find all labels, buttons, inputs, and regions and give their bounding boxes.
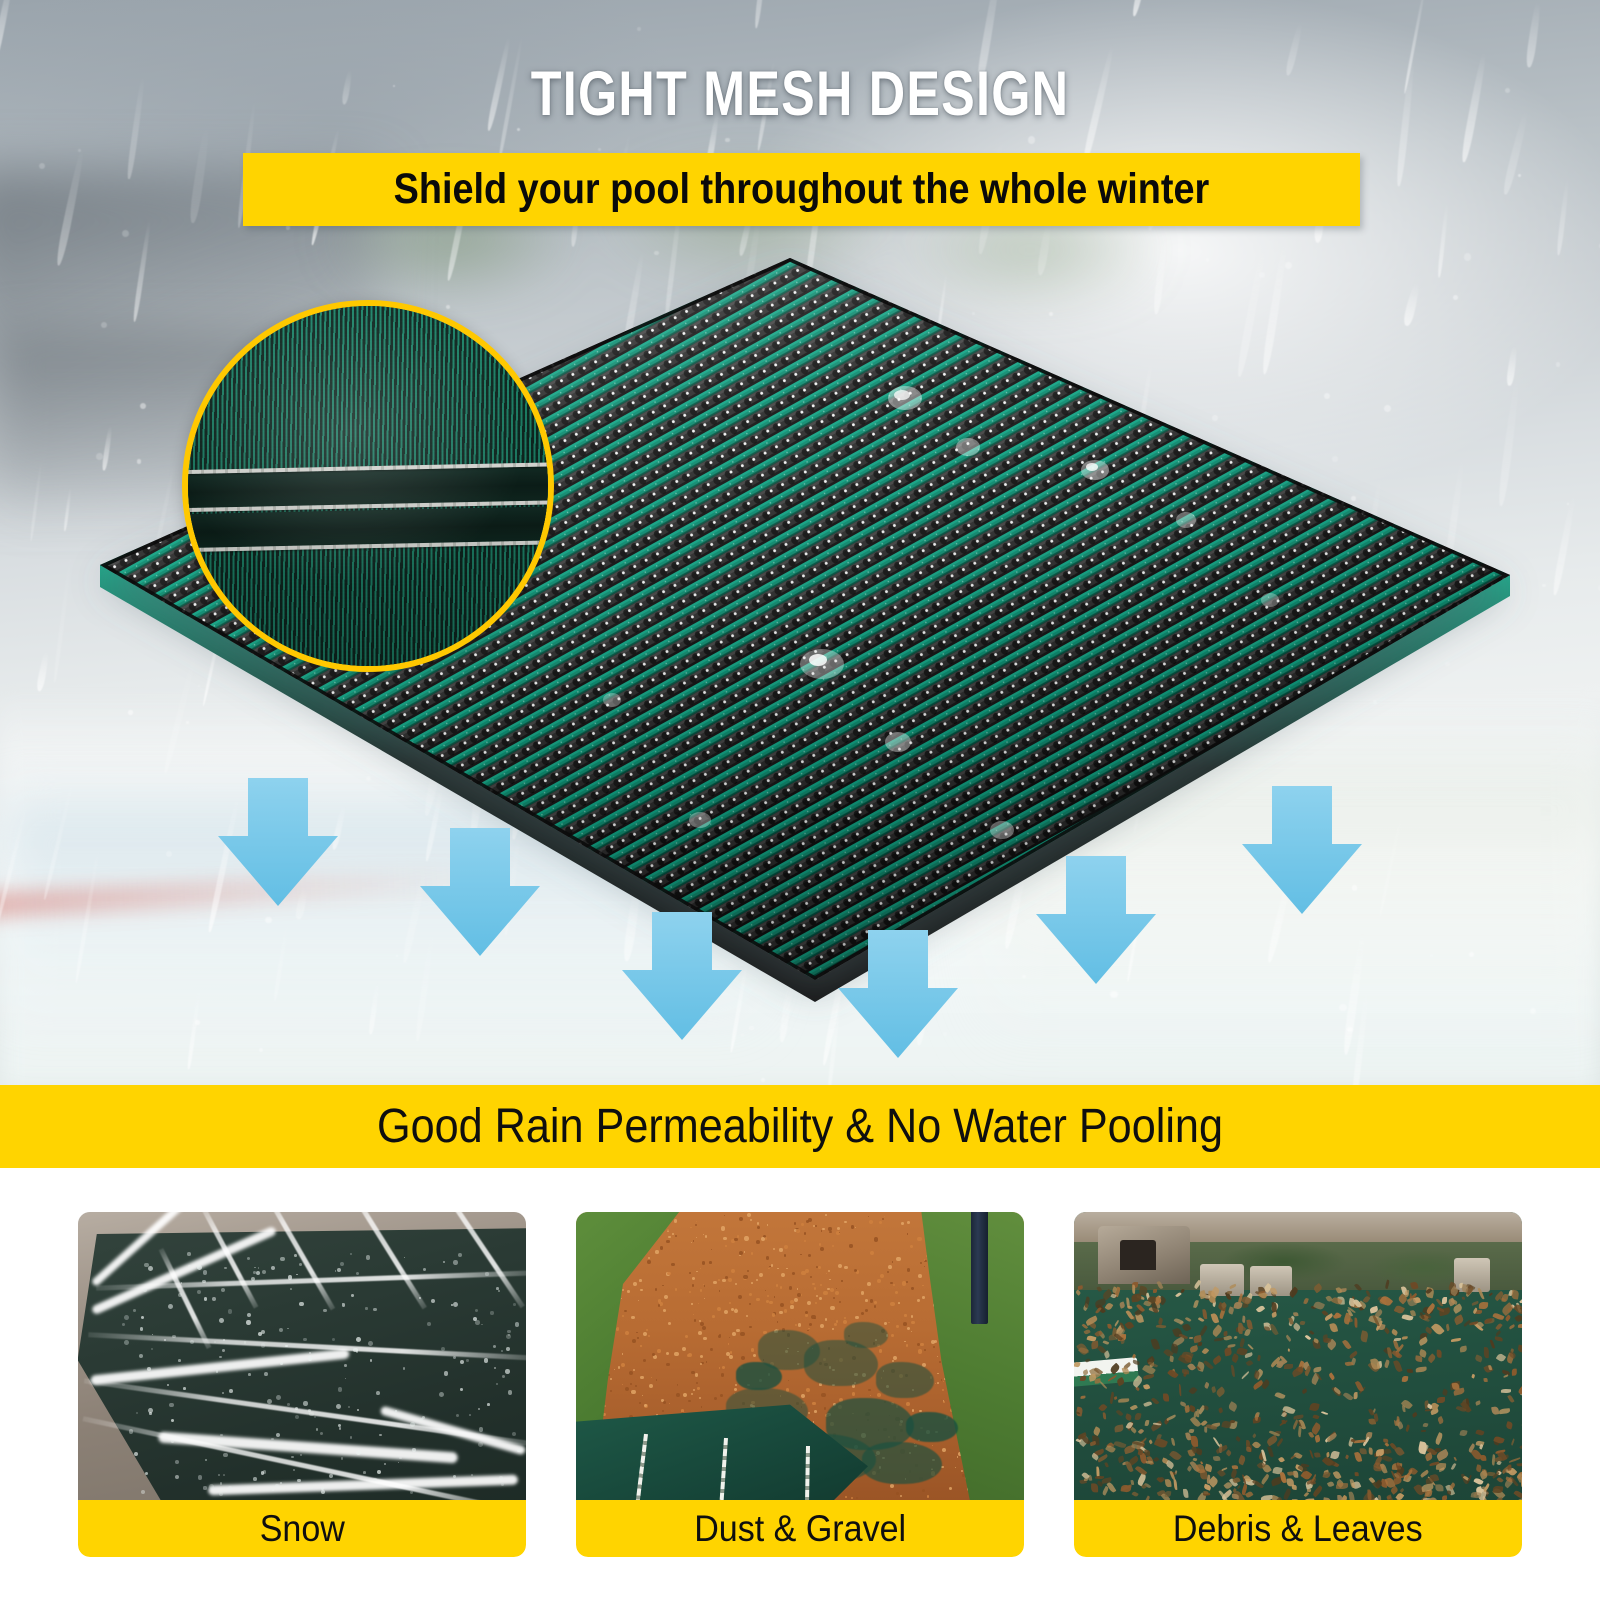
snow-speck xyxy=(148,1408,153,1413)
gravel-grain xyxy=(640,1289,642,1291)
fallen-leaf xyxy=(1518,1344,1522,1352)
snow-speck xyxy=(453,1356,456,1359)
gravel-grain xyxy=(722,1279,725,1282)
snow-speck xyxy=(219,1492,223,1496)
gravel-grain xyxy=(855,1227,856,1228)
gravel-grain xyxy=(631,1390,635,1394)
gravel-grain xyxy=(837,1227,840,1230)
snow-speck xyxy=(485,1272,488,1275)
gravel-grain xyxy=(805,1269,809,1273)
gravel-grain xyxy=(702,1326,706,1330)
gravel-grain xyxy=(691,1371,694,1374)
snow-speck xyxy=(403,1367,405,1369)
gravel-grain xyxy=(939,1361,941,1363)
snow-speck xyxy=(198,1475,202,1479)
snow-speck xyxy=(261,1343,266,1348)
fallen-leaf xyxy=(1368,1447,1373,1454)
fallen-leaf xyxy=(1227,1290,1232,1294)
gravel-grain xyxy=(734,1309,738,1313)
gravel-grain xyxy=(777,1321,779,1323)
snow-speck xyxy=(267,1399,272,1404)
snow-speck xyxy=(183,1387,186,1390)
fallen-leaf xyxy=(1232,1493,1239,1498)
fallen-leaf xyxy=(1501,1389,1511,1393)
gravel-grain xyxy=(869,1220,873,1224)
gravel-grain xyxy=(720,1394,723,1397)
gravel-grain xyxy=(753,1354,756,1357)
gravel-grain xyxy=(717,1307,721,1311)
gravel-grain xyxy=(741,1356,745,1360)
snow-speck xyxy=(280,1257,284,1261)
snow-speck xyxy=(506,1347,510,1351)
gravel-grain xyxy=(918,1274,922,1278)
snow-speck xyxy=(228,1486,232,1490)
photo-dust-gravel xyxy=(576,1212,1024,1500)
gravel-grain xyxy=(751,1282,753,1284)
arrow-1 xyxy=(218,778,338,906)
photo-debris-leaves xyxy=(1074,1212,1522,1500)
snow-speck xyxy=(203,1486,206,1489)
snow-speck xyxy=(124,1315,129,1320)
panel-label-dust-gravel-text: Dust & Gravel xyxy=(694,1508,906,1550)
snow-speck xyxy=(280,1482,282,1484)
gravel-grain xyxy=(826,1273,827,1274)
gravel-grain xyxy=(621,1298,622,1299)
fallen-leaf xyxy=(1144,1420,1148,1426)
gravel-grain xyxy=(779,1248,782,1251)
gravel-grain xyxy=(603,1413,605,1415)
panel-label-snow-text: Snow xyxy=(259,1508,344,1550)
snow-speck xyxy=(288,1275,292,1279)
exposed-cover-patch xyxy=(736,1362,782,1390)
snow-speck xyxy=(261,1330,265,1334)
gravel-grain xyxy=(662,1410,664,1412)
gravel-grain xyxy=(924,1266,925,1267)
snow-speck xyxy=(172,1335,176,1339)
gravel-grain xyxy=(771,1264,773,1266)
snow-speck xyxy=(314,1416,316,1418)
gravel-grain xyxy=(920,1343,923,1346)
fallen-leaf xyxy=(1484,1347,1489,1358)
fallen-leaf xyxy=(1437,1350,1443,1358)
gravel-grain xyxy=(839,1301,841,1303)
snow-speck xyxy=(419,1297,421,1299)
gravel-grain xyxy=(895,1291,898,1294)
gravel-grain xyxy=(648,1257,650,1259)
gravel-grain xyxy=(827,1288,829,1290)
gravel-grain xyxy=(639,1279,642,1282)
snow-speck xyxy=(365,1307,367,1309)
snow-speck xyxy=(501,1350,503,1352)
gravel-grain xyxy=(744,1236,748,1240)
snow-speck xyxy=(271,1266,275,1270)
fallen-leaf xyxy=(1436,1484,1444,1491)
gravel-grain xyxy=(692,1284,694,1286)
gravel-grain xyxy=(635,1385,637,1387)
gravel-grain xyxy=(917,1237,921,1241)
snow-speck xyxy=(471,1474,473,1476)
gravel-grain xyxy=(761,1237,765,1241)
gravel-grain xyxy=(903,1322,907,1326)
gravel-grain xyxy=(822,1228,825,1231)
subtitle-banner: Shield your pool throughout the whole wi… xyxy=(243,153,1360,226)
photo-snow xyxy=(78,1212,526,1500)
gravel-grain xyxy=(845,1496,847,1498)
exposed-cover-patch xyxy=(906,1412,958,1442)
snow-speck xyxy=(214,1341,216,1343)
gravel-grain xyxy=(900,1495,902,1497)
gravel-grain xyxy=(749,1293,752,1296)
gravel-grain xyxy=(937,1373,938,1374)
gravel-grain xyxy=(739,1251,743,1255)
fallen-leaf xyxy=(1132,1285,1135,1295)
gravel-grain xyxy=(710,1348,713,1351)
gravel-grain xyxy=(790,1305,793,1308)
use-case-panels: Snow Dust & Gravel xyxy=(0,1200,1600,1570)
gravel-grain xyxy=(697,1387,699,1389)
snow-speck xyxy=(181,1282,183,1284)
fallen-leaf xyxy=(1323,1334,1329,1341)
gravel-grain xyxy=(647,1260,651,1264)
gravel-grain xyxy=(927,1495,930,1498)
snow-speck xyxy=(469,1414,471,1416)
snow-speck xyxy=(507,1330,510,1333)
fallen-leaf xyxy=(1512,1369,1517,1376)
fallen-leaf xyxy=(1511,1289,1519,1299)
snow-speck xyxy=(171,1440,174,1443)
gravel-grain xyxy=(825,1318,827,1320)
gravel-grain xyxy=(668,1322,671,1325)
gravel-grain xyxy=(922,1489,925,1492)
snow-speck xyxy=(219,1318,224,1323)
arrow-3 xyxy=(622,912,742,1040)
snow-speck xyxy=(220,1482,222,1484)
snow-speck xyxy=(276,1395,281,1400)
fallen-leaf xyxy=(1518,1324,1522,1328)
gravel-grain xyxy=(722,1366,725,1369)
fallen-leaf xyxy=(1196,1463,1205,1473)
snow-speck xyxy=(129,1429,133,1433)
fallen-leaf xyxy=(1164,1478,1171,1487)
gravel-grain xyxy=(769,1266,770,1267)
gravel-grain xyxy=(851,1225,854,1228)
snow-speck xyxy=(356,1450,361,1455)
snow-speck xyxy=(218,1474,220,1476)
gravel-grain xyxy=(800,1254,801,1255)
gravel-grain xyxy=(898,1302,900,1304)
fallen-leaf xyxy=(1182,1369,1189,1374)
snow-speck xyxy=(323,1309,326,1312)
gravel-grain xyxy=(749,1326,751,1328)
gravel-grain xyxy=(666,1363,669,1366)
gravel-grain xyxy=(798,1323,802,1327)
gravel-grain xyxy=(637,1337,638,1338)
snow-speck xyxy=(487,1403,490,1406)
snow-speck xyxy=(147,1367,151,1371)
gravel-grain xyxy=(640,1376,644,1380)
arrow-4 xyxy=(838,930,958,1058)
gravel-grain xyxy=(911,1321,915,1325)
gravel-grain xyxy=(797,1293,801,1297)
gravel-grain xyxy=(736,1329,739,1332)
gravel-grain xyxy=(825,1214,827,1216)
snow-speck xyxy=(341,1457,344,1460)
gravel-grain xyxy=(818,1266,822,1270)
gravel-grain xyxy=(835,1291,839,1295)
snow-speck xyxy=(427,1322,431,1326)
gravel-grain xyxy=(740,1332,744,1336)
gravel-grain xyxy=(638,1300,639,1301)
snow-speck xyxy=(443,1261,445,1263)
gravel-grain xyxy=(834,1323,837,1326)
gravel-grain xyxy=(725,1276,728,1279)
fallen-leaf xyxy=(1287,1471,1294,1476)
fallen-leaf xyxy=(1471,1491,1481,1499)
snow-speck xyxy=(458,1253,462,1257)
snow-speck xyxy=(124,1340,129,1345)
fallen-leaf xyxy=(1314,1452,1320,1458)
snow-speck xyxy=(395,1410,397,1412)
snow-speck xyxy=(222,1392,224,1394)
gravel-grain xyxy=(630,1383,632,1385)
snow-speck xyxy=(175,1460,179,1464)
gravel-grain xyxy=(906,1281,908,1283)
snow-speck xyxy=(515,1322,520,1327)
gravel-grain xyxy=(700,1355,703,1358)
fallen-leaf xyxy=(1394,1338,1401,1341)
gravel-grain xyxy=(868,1389,870,1391)
gravel-grain xyxy=(851,1497,853,1499)
patio-chair-1 xyxy=(1200,1264,1244,1296)
snow-speck xyxy=(229,1365,233,1369)
gravel-grain xyxy=(696,1382,698,1384)
snow-speck xyxy=(178,1293,182,1297)
snow-speck xyxy=(144,1263,148,1267)
snow-speck xyxy=(303,1401,307,1405)
gravel-grain xyxy=(667,1229,669,1231)
subtitle-text: Shield your pool throughout the whole wi… xyxy=(394,165,1210,214)
fallen-leaf xyxy=(1183,1489,1189,1499)
snow-speck xyxy=(190,1340,194,1344)
gravel-grain xyxy=(814,1287,816,1289)
gravel-grain xyxy=(668,1236,670,1238)
snow-speck xyxy=(479,1427,483,1431)
fallen-leaf xyxy=(1437,1396,1445,1402)
gravel-grain xyxy=(709,1261,712,1264)
panel-dust-gravel[interactable]: Dust & Gravel xyxy=(576,1212,1024,1557)
snow-speck xyxy=(246,1320,250,1324)
gravel-grain xyxy=(728,1278,732,1282)
gravel-grain xyxy=(796,1229,800,1233)
gravel-grain xyxy=(820,1247,824,1251)
gravel-grain xyxy=(734,1388,737,1391)
snow-speck xyxy=(209,1484,214,1489)
fallen-leaf xyxy=(1163,1393,1169,1401)
snow-speck xyxy=(244,1341,247,1344)
panel-label-debris-leaves: Debris & Leaves xyxy=(1074,1500,1522,1557)
gravel-grain xyxy=(918,1349,922,1353)
gravel-grain xyxy=(663,1401,666,1404)
gravel-grain xyxy=(780,1286,782,1288)
snow-speck xyxy=(356,1350,359,1353)
snow-speck xyxy=(275,1484,279,1488)
fence-pole xyxy=(971,1212,988,1324)
gravel-grain xyxy=(890,1302,894,1306)
snow-speck xyxy=(316,1428,319,1431)
arrow-6 xyxy=(1242,786,1362,914)
gravel-grain xyxy=(691,1242,692,1243)
gravel-grain xyxy=(838,1264,842,1268)
panel-label-dust-gravel: Dust & Gravel xyxy=(576,1500,1024,1557)
gravel-grain xyxy=(779,1311,783,1315)
fallen-leaf xyxy=(1442,1297,1447,1304)
snow-speck xyxy=(384,1463,386,1465)
gravel-grain xyxy=(830,1288,834,1292)
gravel-grain xyxy=(901,1222,904,1225)
gravel-grain xyxy=(724,1310,728,1314)
snow-speck xyxy=(253,1477,257,1481)
gravel-grain xyxy=(821,1393,825,1397)
snow-speck xyxy=(494,1367,496,1369)
gravel-grain xyxy=(961,1470,963,1472)
gravel-grain xyxy=(801,1394,805,1398)
snow-speck xyxy=(357,1409,359,1411)
exposed-cover-patch xyxy=(844,1322,888,1348)
gravel-grain xyxy=(671,1263,675,1267)
snow-speck xyxy=(293,1469,295,1471)
snow-speck xyxy=(513,1303,516,1306)
snow-speck xyxy=(329,1474,333,1478)
snow-speck xyxy=(453,1475,456,1478)
snow-speck xyxy=(164,1339,166,1341)
fallen-leaf xyxy=(1173,1479,1177,1490)
snow-speck xyxy=(287,1403,290,1406)
fallen-leaf xyxy=(1508,1465,1512,1471)
gravel-grain xyxy=(784,1254,786,1256)
gravel-grain xyxy=(943,1401,945,1403)
snow-speck xyxy=(219,1356,221,1358)
gravel-grain xyxy=(922,1296,925,1299)
gravel-grain xyxy=(660,1246,664,1250)
snow-speck xyxy=(501,1483,504,1486)
gravel-grain xyxy=(879,1349,883,1353)
gravel-grain xyxy=(751,1348,754,1351)
snow-speck xyxy=(490,1311,493,1314)
snow-speck xyxy=(220,1434,223,1437)
gravel-grain xyxy=(772,1313,776,1317)
snow-speck xyxy=(248,1373,251,1376)
arrow-5 xyxy=(1036,856,1156,984)
snow-speck xyxy=(299,1263,302,1266)
gravel-grain xyxy=(830,1306,834,1310)
gravel-grain xyxy=(676,1393,680,1397)
fallen-leaf xyxy=(1292,1485,1297,1490)
gravel-grain xyxy=(807,1330,808,1331)
gravel-grain xyxy=(677,1384,678,1385)
fallen-leaf xyxy=(1447,1490,1451,1495)
gravel-grain xyxy=(712,1315,715,1318)
gravel-grain xyxy=(672,1233,674,1235)
gravel-grain xyxy=(691,1303,692,1304)
snow-speck xyxy=(412,1448,415,1451)
panel-label-debris-leaves-text: Debris & Leaves xyxy=(1173,1508,1423,1550)
panel-snow[interactable]: Snow xyxy=(78,1212,526,1557)
gravel-grain xyxy=(820,1284,822,1286)
snow-speck xyxy=(308,1356,313,1361)
gravel-grain xyxy=(832,1328,834,1330)
fallen-leaf xyxy=(1336,1482,1348,1488)
gravel-grain xyxy=(725,1245,726,1246)
gravel-grain xyxy=(756,1279,758,1281)
panel-label-snow: Snow xyxy=(78,1500,526,1557)
gravel-grain xyxy=(865,1299,868,1302)
gravel-grain xyxy=(649,1384,653,1388)
gravel-grain xyxy=(747,1213,751,1217)
gravel-grain xyxy=(750,1219,752,1221)
snow-speck xyxy=(290,1288,292,1290)
snow-speck xyxy=(251,1277,255,1281)
fallen-leaf xyxy=(1483,1378,1487,1382)
gravel-grain xyxy=(698,1331,702,1335)
snow-speck xyxy=(223,1339,225,1341)
feature-banner-text: Good Rain Permeability & No Water Poolin… xyxy=(377,1099,1223,1154)
snow-speck xyxy=(410,1422,415,1427)
fallen-leaf xyxy=(1091,1483,1098,1492)
snow-speck xyxy=(297,1479,300,1482)
fallen-leaf xyxy=(1360,1448,1367,1455)
snow-speck xyxy=(223,1453,228,1458)
snow-speck xyxy=(169,1403,173,1407)
gravel-grain xyxy=(920,1262,922,1264)
snow-speck xyxy=(475,1320,480,1325)
page-title: TIGHT MESH DESIGN xyxy=(160,58,1440,130)
gravel-grain xyxy=(690,1227,691,1228)
fallen-leaf xyxy=(1293,1312,1298,1317)
snow-speck xyxy=(229,1389,233,1393)
gravel-grain xyxy=(907,1268,911,1272)
snow-speck xyxy=(285,1345,287,1347)
snow-speck xyxy=(178,1359,181,1362)
gravel-grain xyxy=(689,1272,691,1274)
gravel-grain xyxy=(924,1349,926,1351)
gravel-grain xyxy=(874,1237,878,1241)
fireplace-opening xyxy=(1120,1240,1156,1270)
snow-speck xyxy=(167,1384,169,1386)
gravel-grain xyxy=(807,1301,811,1305)
fallen-leaf xyxy=(1204,1427,1207,1433)
snow-speck xyxy=(376,1391,380,1395)
snow-speck xyxy=(338,1424,341,1427)
fallen-leaf xyxy=(1374,1467,1382,1472)
fallen-leaf xyxy=(1138,1449,1143,1455)
fallen-leaf xyxy=(1354,1392,1358,1399)
gravel-grain xyxy=(805,1314,808,1317)
gravel-grain xyxy=(874,1301,877,1304)
gravel-grain xyxy=(810,1276,812,1278)
panel-debris-leaves[interactable]: Debris & Leaves xyxy=(1074,1212,1522,1557)
gravel-grain xyxy=(744,1251,745,1252)
gravel-grain xyxy=(911,1287,913,1289)
gravel-grain xyxy=(610,1390,612,1392)
gravel-grain xyxy=(756,1298,760,1302)
snow-speck xyxy=(453,1260,458,1265)
gravel-grain xyxy=(814,1410,817,1413)
snow-speck xyxy=(212,1297,216,1301)
gravel-grain xyxy=(632,1339,636,1343)
snow-speck xyxy=(134,1452,138,1456)
gravel-grain xyxy=(789,1286,792,1289)
fallen-leaf xyxy=(1479,1301,1489,1309)
